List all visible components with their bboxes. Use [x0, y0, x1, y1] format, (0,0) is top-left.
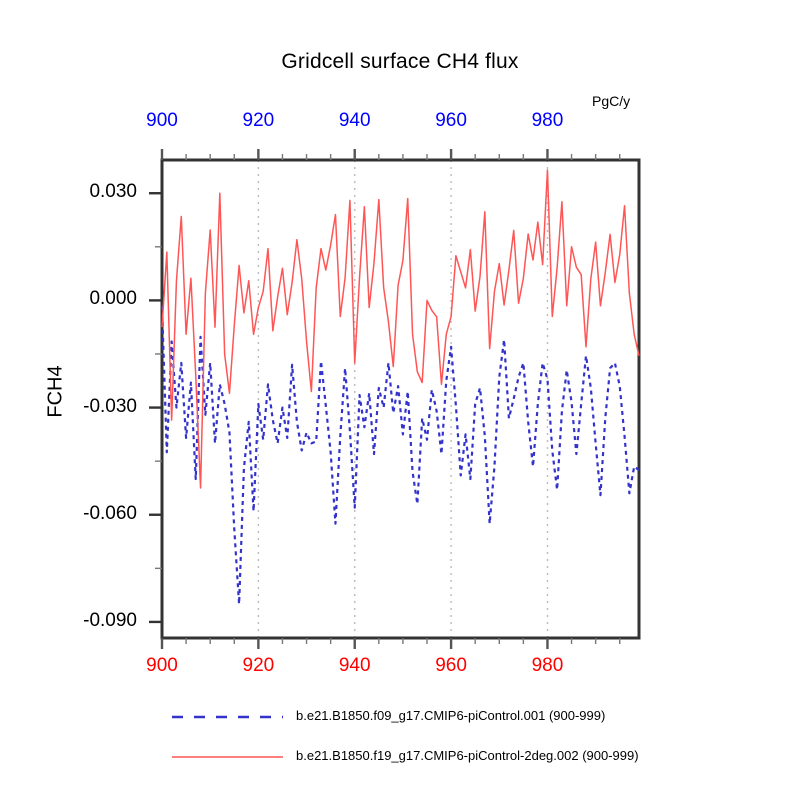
legend-label-2: b.e21.B1850.f19_g17.CMIP6-piControl-2deg… [296, 748, 639, 763]
x-axis-tick-label-top: 940 [329, 110, 381, 132]
x-axis-tick-label-bottom: 980 [521, 655, 573, 677]
chart-container: Gridcell surface CH4 flux PgC/y FCH4 900… [0, 0, 800, 800]
x-axis-tick-label-top: 960 [425, 110, 477, 132]
series-line-1 [162, 306, 639, 604]
series-line-2 [162, 170, 639, 488]
x-axis-tick-label-bottom: 960 [425, 655, 477, 677]
data-series [162, 170, 639, 604]
plot-frame [162, 160, 639, 638]
plot-border [162, 160, 639, 638]
x-axis-tick-label-bottom: 940 [329, 655, 381, 677]
x-axis-tick-label-top: 900 [136, 110, 188, 132]
y-axis-tick-label: -0.030 [55, 396, 137, 418]
x-axis-tick-label-bottom: 900 [136, 655, 188, 677]
x-axis-tick-label-top: 920 [232, 110, 284, 132]
x-axis-tick-label-top: 980 [521, 110, 573, 132]
x-axis-tick-label-bottom: 920 [232, 655, 284, 677]
legend-line-samples [172, 717, 283, 757]
y-axis-tick-label: 0.030 [55, 181, 137, 203]
y-axis-tick-label: 0.000 [55, 288, 137, 310]
legend-label-1: b.e21.B1850.f09_g17.CMIP6-piControl.001 … [296, 708, 605, 723]
gridlines [258, 160, 547, 638]
y-axis-tick-label: -0.060 [55, 503, 137, 525]
y-axis-tick-label: -0.090 [55, 610, 137, 632]
